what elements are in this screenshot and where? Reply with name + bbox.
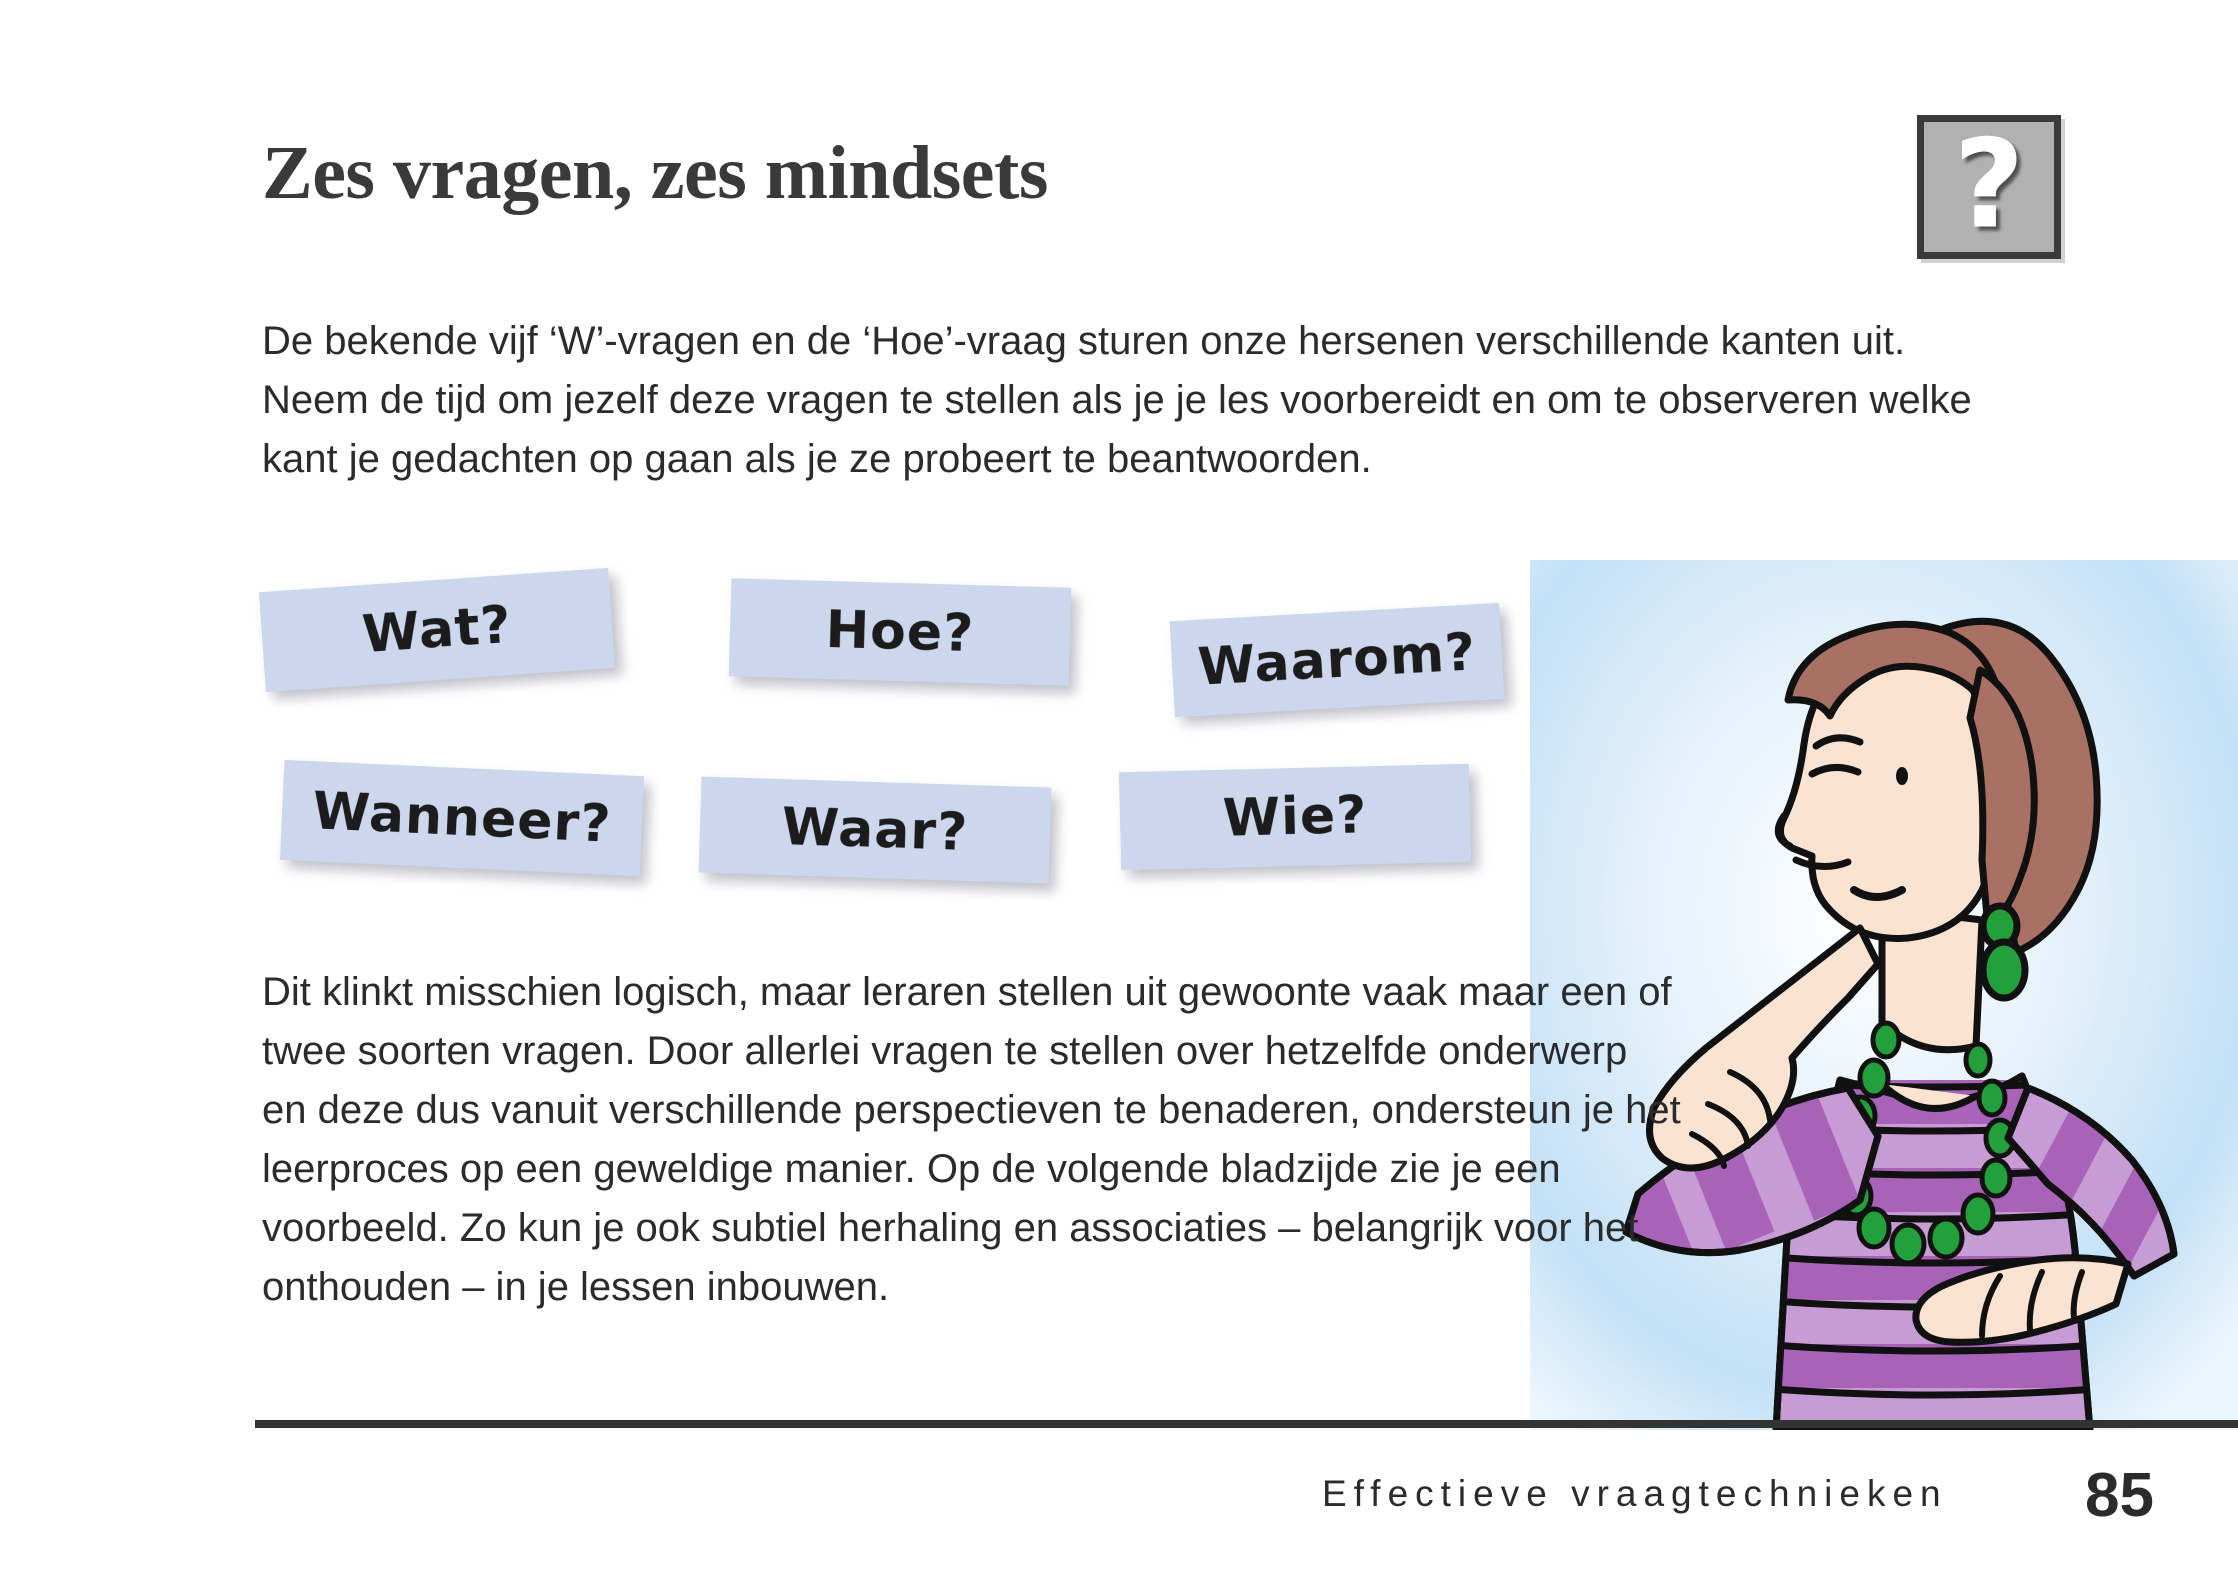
sticker-label: Wanneer? xyxy=(311,781,612,855)
sticker-hoe: Hoe? xyxy=(729,578,1072,685)
sticker-wanneer: Wanneer? xyxy=(280,760,644,876)
sticker-wie: Wie? xyxy=(1119,764,1471,871)
main-paragraph: Dit klinkt misschien logisch, maar lerar… xyxy=(262,963,1682,1317)
sticker-waarom: Waarom? xyxy=(1170,603,1505,717)
document-page: Zes vragen, zes mindsets ? De bekende vi… xyxy=(0,0,2238,1588)
sticker-label: Wat? xyxy=(360,595,513,665)
sticker-label: Hoe? xyxy=(825,600,975,664)
sticker-label: Wie? xyxy=(1222,785,1368,849)
footer-chapter-label: Effectieve vraagtechnieken xyxy=(1322,1473,1948,1515)
sticker-label: Waarom? xyxy=(1196,622,1477,697)
sticker-wat: Wat? xyxy=(259,568,615,692)
page-title: Zes vragen, zes mindsets xyxy=(262,130,1048,217)
page-number: 85 xyxy=(2085,1460,2154,1531)
footer-divider xyxy=(255,1420,2238,1428)
question-mark-glyph: ? xyxy=(1924,124,2054,246)
sticker-label: Waar? xyxy=(781,797,969,863)
intro-paragraph: De bekende vijf ‘W’-vragen en de ‘Hoe’-v… xyxy=(262,312,1977,489)
question-mark-icon: ? xyxy=(1917,115,2061,259)
sticker-waar: Waar? xyxy=(699,777,1052,884)
